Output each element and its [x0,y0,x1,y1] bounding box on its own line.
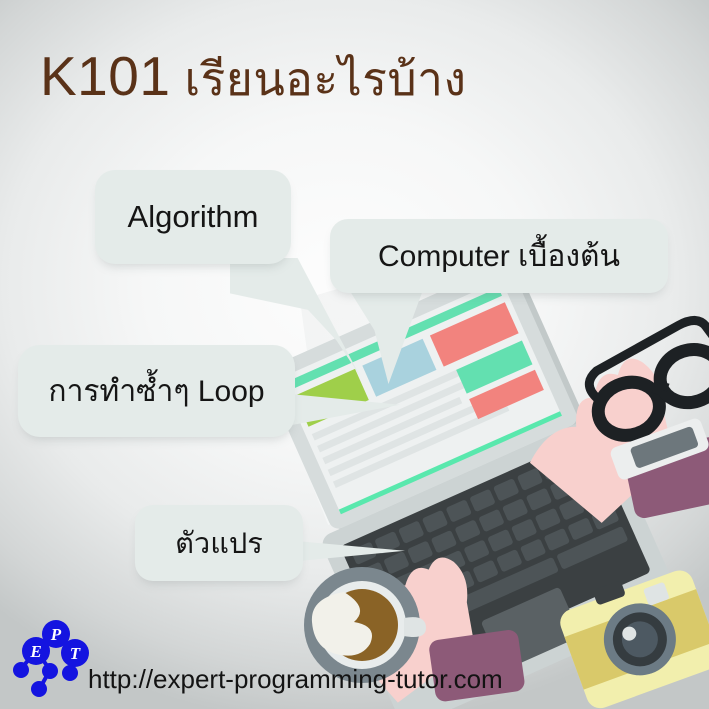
cup-handle [404,617,426,637]
poster-canvas: K101เรียนอะไรบ้าง Algorithm Computer เบื… [0,0,709,709]
title-course-code: K101 [40,45,170,107]
speech-bubble-algorithm[interactable]: Algorithm [95,170,291,264]
logo-letter-e: E [29,642,41,661]
page-title: K101เรียนอะไรบ้าง [40,46,466,107]
ept-tree-logo-icon[interactable]: P E T [12,614,98,702]
speech-bubble-variable[interactable]: ตัวแปร [135,505,303,581]
logo-letter-p: P [50,625,62,644]
speech-bubble-loop-label: การทำซ้ำๆ Loop [48,368,264,415]
speech-bubble-variable-label: ตัวแปร [175,520,263,566]
speech-bubble-algorithm-label: Algorithm [128,199,259,235]
website-url[interactable]: http://expert-programming-tutor.com [88,664,503,695]
speech-bubble-loop[interactable]: การทำซ้ำๆ Loop [18,345,295,437]
speech-bubble-computer-label: Computer เบื้องต้น [378,233,620,280]
title-thai-text: เรียนอะไรบ้าง [184,53,466,105]
logo-letter-t: T [70,644,81,663]
speech-bubble-computer[interactable]: Computer เบื้องต้น [330,219,668,293]
